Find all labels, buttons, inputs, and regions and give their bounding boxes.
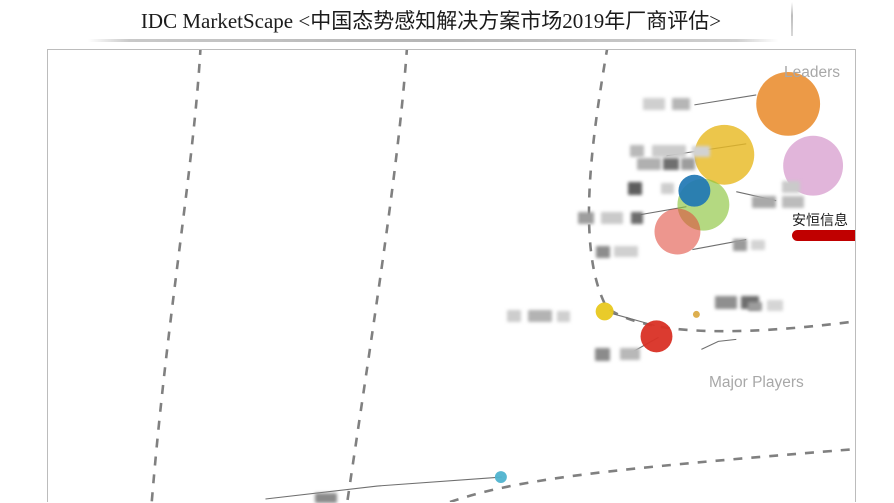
leader-line-1 — [694, 95, 756, 105]
redacted-vendor-label — [767, 300, 783, 311]
bubble-salmon — [654, 209, 700, 255]
redacted-vendor-label — [672, 98, 690, 110]
redacted-vendor-label — [715, 296, 737, 309]
redacted-vendor-label — [620, 348, 640, 360]
leader-line-8 — [701, 339, 736, 349]
redacted-vendor-label — [751, 240, 765, 250]
bubble-red — [641, 320, 673, 352]
redacted-vendor-label — [631, 212, 643, 224]
redacted-vendor-label — [782, 181, 800, 193]
plot-graphics — [48, 50, 855, 502]
zone-label-major-players: Major Players — [709, 374, 804, 392]
bubble-teal — [495, 471, 507, 483]
redacted-vendor-label — [782, 196, 804, 208]
redacted-vendor-label — [601, 212, 623, 224]
redacted-vendor-label — [578, 212, 594, 224]
bubble-blue — [678, 175, 710, 207]
redacted-vendor-label — [733, 239, 747, 251]
redacted-vendor-label — [661, 183, 674, 194]
boundary-curve-major — [450, 449, 855, 502]
bubble-series — [495, 72, 843, 483]
redacted-vendor-label — [557, 311, 570, 322]
redacted-vendor-label — [748, 302, 762, 311]
redacted-vendor-label — [692, 146, 710, 157]
title-right-edge — [791, 2, 793, 36]
redacted-vendor-label — [652, 145, 686, 157]
highlight-label: 安恒信息 — [792, 210, 848, 230]
redacted-vendor-label — [643, 98, 665, 110]
redacted-vendor-label — [630, 145, 644, 157]
redacted-vendor-label — [663, 158, 679, 170]
plot-area: Leaders Major Players 安恒信息 — [47, 49, 856, 502]
redacted-vendor-label — [507, 310, 521, 322]
marketscape-figure: IDC MarketScape <中国态势感知解决方案市场2019年厂商评估> … — [0, 0, 894, 502]
redacted-vendor-label — [628, 182, 642, 195]
redacted-vendor-label — [681, 158, 695, 170]
boundary-curve-inner-left — [347, 50, 407, 502]
redacted-vendor-label — [637, 158, 661, 170]
redacted-vendor-label — [595, 348, 610, 361]
chart-title-bar: IDC MarketScape <中国态势感知解决方案市场2019年厂商评估> — [72, 0, 790, 40]
boundary-curve-left — [152, 50, 201, 502]
redacted-vendor-label — [528, 310, 552, 322]
bubble-tan-xs — [693, 311, 700, 318]
redacted-vendor-label — [614, 246, 638, 257]
redacted-vendor-label — [596, 246, 610, 258]
title-underline-rule — [88, 39, 778, 42]
redacted-vendor-label — [752, 196, 776, 208]
zone-label-leaders: Leaders — [784, 64, 840, 82]
leader-line-9 — [265, 477, 501, 499]
zone-boundary-curves — [152, 50, 855, 502]
highlight-bar — [792, 230, 856, 241]
bubble-gold-sm — [596, 302, 614, 320]
page-title: IDC MarketScape <中国态势感知解决方案市场2019年厂商评估> — [141, 5, 721, 35]
